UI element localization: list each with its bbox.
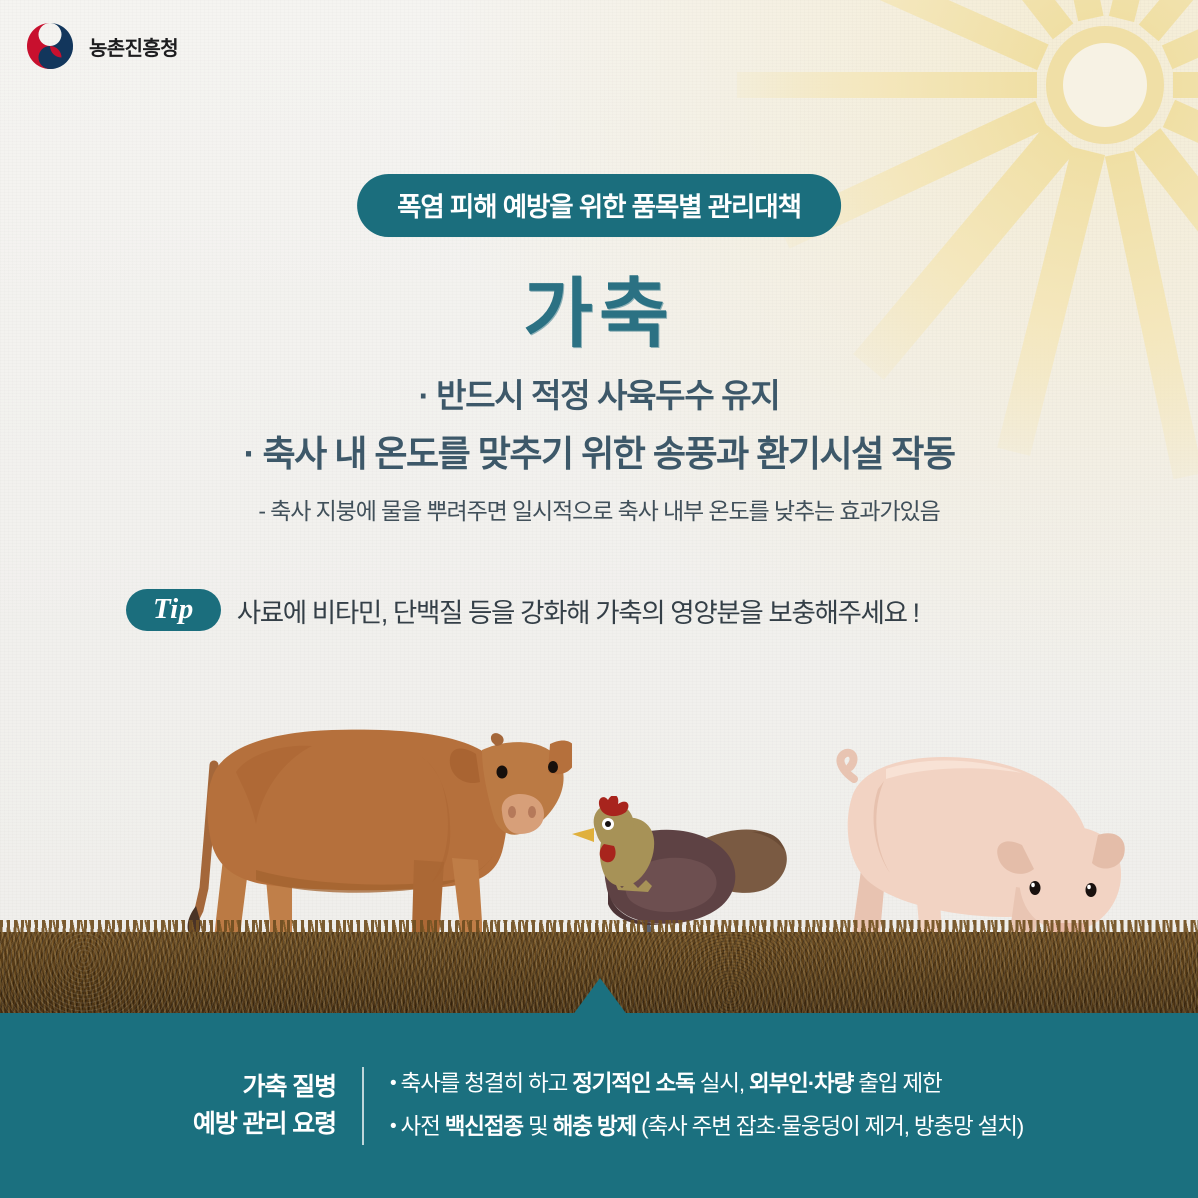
footer-text-emphasis: 백신접종 [445,1114,523,1139]
footer-panel: 가축 질병 예방 관리 요령 •축사를 청결히 하고 정기적인 소독 실시, 외… [0,1013,1198,1198]
footer-text-run: (축사 주변 잡초·물웅덩이 제거, 방충망 설치) [636,1114,1023,1139]
footer-text-emphasis: 정기적인 소독 [572,1071,694,1096]
illustration-scene [0,640,1198,1020]
agency-logo: 농촌진흥청 [24,20,178,72]
footer-text-emphasis: 해충 방제 [553,1114,636,1139]
footer-text-run: 축사를 청결히 하고 [401,1071,573,1096]
topic-badge: 폭염 피해 예방을 위한 품목별 관리대책 [357,174,841,237]
up-arrow-marker [572,978,628,1016]
sun-rays-icon [805,0,1198,385]
bullet-list: · 반드시 적정 사육두수 유지 · 축사 내 온도를 맞추기 위한 송풍과 환… [0,375,1198,526]
footer-list-item: •사전 백신접종 및 해충 방제 (축사 주변 잡초·물웅덩이 제거, 방충망 … [390,1106,1023,1149]
infographic-canvas: 농촌진흥청 폭염 피해 예방을 위한 품목별 관리대책 가축 · 반드시 적정 … [0,0,1198,1198]
footer-label-line2: 예방 관리 요령 [193,1106,336,1142]
agency-name: 농촌진흥청 [89,32,178,61]
footer-label-line1: 가축 질병 [193,1069,336,1105]
footer-text-emphasis: 외부인·차량 [749,1071,853,1096]
footer-text-run: 사전 [401,1114,445,1139]
tip-row: Tip 사료에 비타민, 단백질 등을 강화해 가축의 영양분을 보충해주세요 … [126,589,919,631]
korea-government-taegeuk-logo [24,20,76,72]
footer-list-item: •축사를 청결히 하고 정기적인 소독 실시, 외부인·차량 출입 제한 [390,1063,1023,1106]
sun-disc [1046,26,1164,144]
page-title: 가축 [523,252,675,362]
bullet-item-2: · 축사 내 온도를 맞추기 위한 송풍과 환기시설 작동 [0,431,1198,478]
bullet-item-1: · 반드시 적정 사육두수 유지 [0,375,1198,417]
footer-text-run: 출입 제한 [853,1071,941,1096]
footer-text-run: 및 [523,1114,553,1139]
bullet-subnote: - 축사 지붕에 물을 뿌려주면 일시적으로 축사 내부 온도를 낮추는 효과가… [0,492,1198,526]
footer-bullet-dot: • [390,1116,401,1137]
tip-badge: Tip [126,589,221,631]
footer-bullet-dot: • [390,1073,401,1094]
footer-text-run: 실시, [695,1071,749,1096]
footer-guideline-list: •축사를 청결히 하고 정기적인 소독 실시, 외부인·차량 출입 제한 •사전… [364,1063,1023,1149]
footer-label: 가축 질병 예방 관리 요령 [193,1069,362,1142]
tip-text: 사료에 비타민, 단백질 등을 강화해 가축의 영양분을 보충해주세요 ! [237,591,919,630]
